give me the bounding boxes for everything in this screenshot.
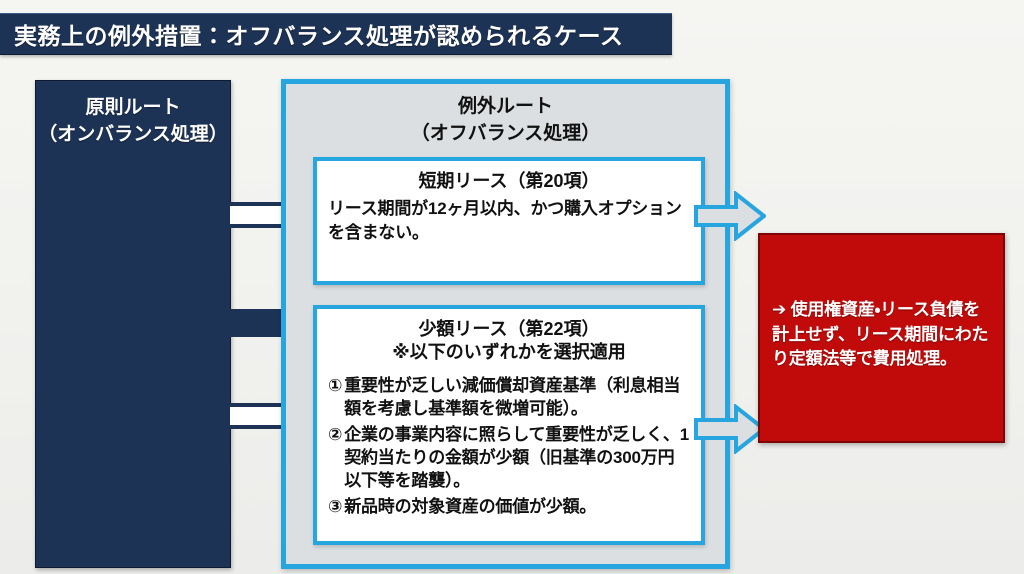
list-marker: ②	[328, 423, 342, 492]
small-lease-card: 少額リース（第22項） ※以下のいずれかを選択適用 ① 重要性が乏しい減価償却資…	[313, 305, 705, 545]
small-lease-condition-list: ① 重要性が乏しい減価償却資産基準（利息相当額を考慮し基準額を微増可能）。 ② …	[328, 374, 690, 519]
list-item-text: 新品時の対象資産の価値が少額。	[344, 495, 690, 518]
arrow-short-lease-to-result	[694, 191, 766, 241]
list-marker: ③	[328, 495, 342, 518]
list-item-text: 重要性が乏しい減価償却資産基準（利息相当額を考慮し基準額を微増可能）。	[344, 374, 690, 420]
principle-route-label: 原則ルート （オンバランス処理）	[38, 95, 228, 567]
list-item: ② 企業の事業内容に照らして重要性が乏しく、1契約当たりの金額が少額（旧基準の3…	[328, 423, 690, 492]
result-box: ➔ 使用権資産・リース負債を計上せず、リース期間にわたり定額法等で費用処理。	[758, 233, 1005, 443]
short-lease-card: 短期リース（第20項） リース期間が12ヶ月以内、かつ購入オプションを含まない。	[313, 157, 705, 285]
diagram-canvas: 実務上の例外措置：オフバランス処理が認められるケース 原則ルート （オンバランス…	[0, 0, 1024, 574]
list-item-text: 企業の事業内容に照らして重要性が乏しく、1契約当たりの金額が少額（旧基準の300…	[344, 423, 690, 492]
list-marker: ①	[328, 374, 342, 420]
title-banner: 実務上の例外措置：オフバランス処理が認められるケース	[0, 13, 672, 55]
page-title: 実務上の例外措置：オフバランス処理が認められるケース	[0, 17, 623, 51]
small-lease-title: 少額リース（第22項） ※以下のいずれかを選択適用	[328, 318, 690, 365]
short-lease-title: 短期リース（第20項）	[328, 170, 690, 193]
result-text: ➔ 使用権資産・リース負債を計上せず、リース期間にわたり定額法等で費用処理。	[772, 298, 991, 372]
exception-route-header: 例外ルート （オフバランス処理）	[286, 94, 725, 147]
principle-route-box: 原則ルート （オンバランス処理）	[35, 80, 231, 568]
short-lease-body: リース期間が12ヶ月以内、かつ購入オプションを含まない。	[328, 197, 690, 243]
list-item: ① 重要性が乏しい減価償却資産基準（利息相当額を考慮し基準額を微増可能）。	[328, 374, 690, 420]
arrow-small-lease-to-result	[694, 404, 766, 454]
exception-route-panel: 例外ルート （オフバランス処理） 短期リース（第20項） リース期間が12ヶ月以…	[281, 79, 730, 569]
list-item: ③ 新品時の対象資産の価値が少額。	[328, 495, 690, 518]
